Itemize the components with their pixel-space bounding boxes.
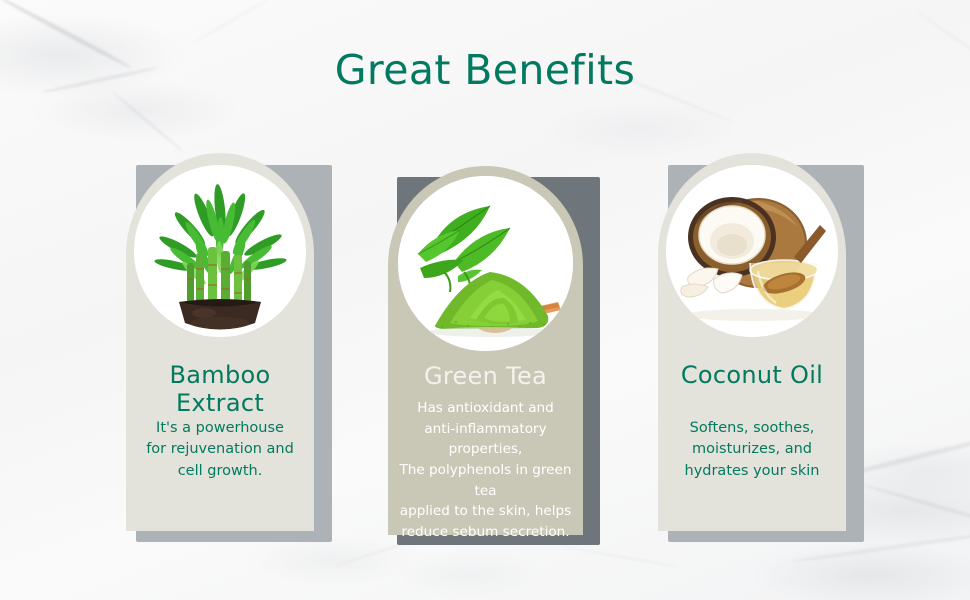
card-description-line: anti-inflammatory properties, bbox=[388, 419, 583, 460]
card-description: It's a powerhouse for rejuvenation and c… bbox=[126, 418, 314, 482]
benefits-poster: Great Benefits bbox=[0, 0, 970, 600]
bamboo-plant-photo bbox=[134, 165, 306, 337]
card-surface: Coconut Oil Softens, soothes, moisturize… bbox=[658, 153, 846, 531]
benefit-card-green-tea[interactable]: Green Tea Has antioxidant and anti-infla… bbox=[388, 166, 603, 546]
card-surface: Bamboo Extract It's a powerhouse for rej… bbox=[126, 153, 314, 531]
card-description-line: hydrates your skin bbox=[658, 461, 846, 482]
card-description-line: applied to the skin, helps bbox=[388, 501, 583, 522]
card-description: Softens, soothes, moisturizes, and hydra… bbox=[658, 418, 846, 482]
bamboo-illustration bbox=[134, 165, 306, 337]
card-description-line: reduce sebum secretion. bbox=[388, 522, 583, 543]
marble-vein bbox=[561, 545, 680, 569]
benefit-card-coconut-oil[interactable]: Coconut Oil Softens, soothes, moisturize… bbox=[658, 153, 863, 543]
coconut-illustration bbox=[666, 165, 838, 337]
green-tea-illustration bbox=[398, 176, 573, 351]
green-tea-powder-photo bbox=[398, 176, 573, 351]
card-title: Coconut Oil bbox=[658, 361, 846, 389]
marble-vein bbox=[863, 483, 970, 531]
benefit-card-bamboo-extract[interactable]: Bamboo Extract It's a powerhouse for rej… bbox=[126, 153, 331, 543]
marble-vein bbox=[190, 0, 269, 45]
card-description: Has antioxidant and anti-inflammatory pr… bbox=[388, 398, 583, 543]
card-description-line: It's a powerhouse bbox=[126, 418, 314, 439]
card-description-line: The polyphenols in green tea bbox=[388, 460, 583, 501]
marble-vein bbox=[110, 90, 185, 153]
card-title: Bamboo Extract bbox=[126, 361, 314, 417]
card-description-line: for rejuvenation and bbox=[126, 439, 314, 460]
card-description-line: cell growth. bbox=[126, 461, 314, 482]
card-surface: Green Tea Has antioxidant and anti-infla… bbox=[388, 166, 583, 535]
card-description-line: moisturizes, and bbox=[658, 439, 846, 460]
page-title: Great Benefits bbox=[0, 46, 970, 94]
coconut-oil-photo bbox=[666, 165, 838, 337]
card-title: Green Tea bbox=[388, 362, 583, 390]
card-description-line: Has antioxidant and bbox=[388, 398, 583, 419]
card-description-line: Softens, soothes, bbox=[658, 418, 846, 439]
